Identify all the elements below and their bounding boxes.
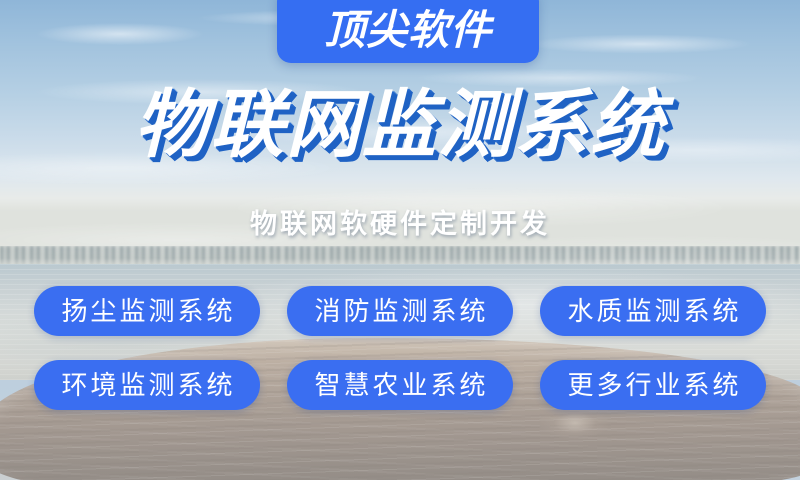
service-pill-label: 环境监测系统 [58, 372, 235, 398]
service-pill-label: 智慧农业系统 [311, 372, 488, 398]
banner-content: 顶尖软件 物联网监测系统 物联网软硬件定制开发 扬尘监测系统 消防监测系统 水质… [0, 0, 800, 480]
service-pill-label: 更多行业系统 [564, 372, 741, 398]
main-title: 物联网监测系统 [0, 88, 800, 162]
brand-badge[interactable]: 顶尖软件 [277, 0, 539, 63]
service-pill-dust[interactable]: 扬尘监测系统 [34, 286, 260, 336]
service-pill-label: 消防监测系统 [311, 298, 488, 324]
service-pill-environment[interactable]: 环境监测系统 [34, 360, 260, 410]
subtitle: 物联网软硬件定制开发 [0, 208, 800, 240]
promo-banner: 顶尖软件 物联网监测系统 物联网软硬件定制开发 扬尘监测系统 消防监测系统 水质… [0, 0, 800, 480]
service-pill-smart-agriculture[interactable]: 智慧农业系统 [287, 360, 513, 410]
service-pill-water-quality[interactable]: 水质监测系统 [540, 286, 766, 336]
service-pill-label: 扬尘监测系统 [58, 298, 235, 324]
brand-badge-label: 顶尖软件 [324, 10, 492, 51]
service-pill-more-industries[interactable]: 更多行业系统 [540, 360, 766, 410]
service-pill-label: 水质监测系统 [564, 298, 741, 324]
service-pill-fire[interactable]: 消防监测系统 [287, 286, 513, 336]
service-pill-grid: 扬尘监测系统 消防监测系统 水质监测系统 环境监测系统 智慧农业系统 更多行业系… [34, 286, 766, 410]
